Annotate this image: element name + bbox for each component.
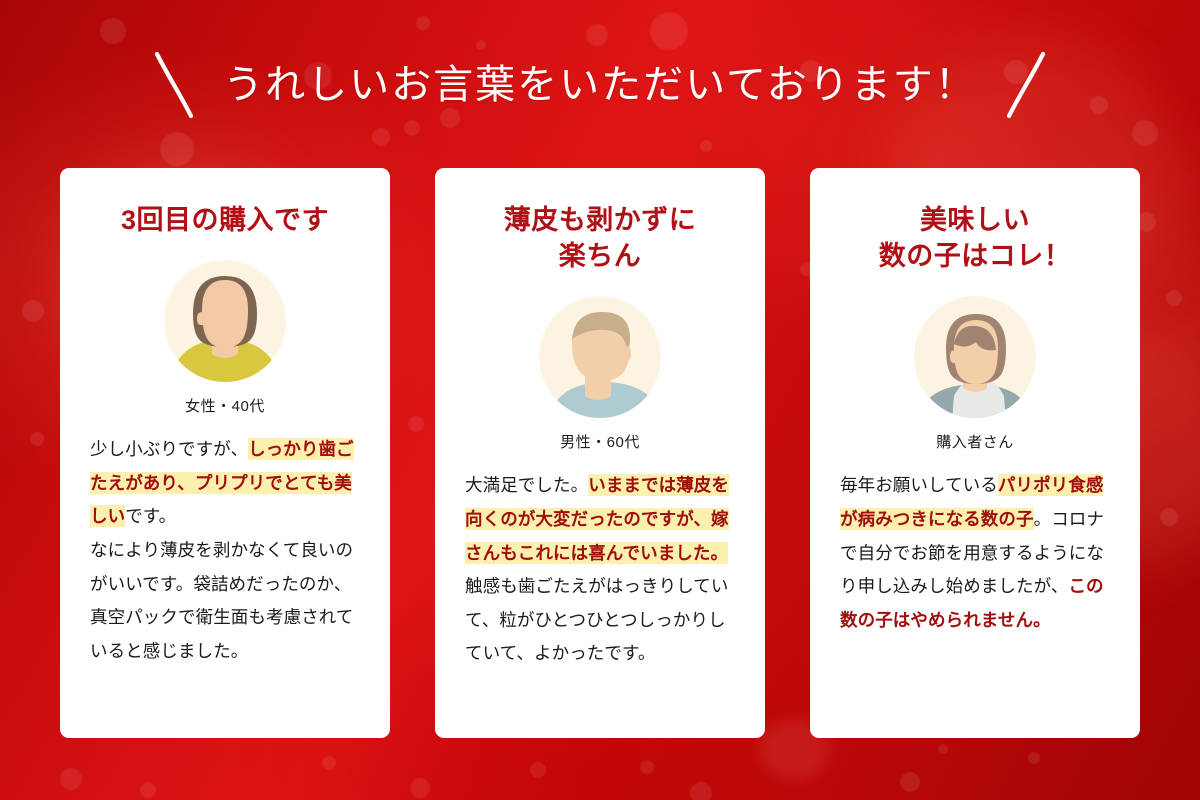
page-title: うれしいお言葉をいただいております！ (223, 65, 977, 105)
card-title: 3回目の購入です (121, 202, 329, 238)
card-body: 少し小ぶりですが、しっかり歯ごたえがあり、プリプリでとても美しいです。なにより薄… (90, 433, 360, 668)
person-label: 男性・60代 (560, 431, 640, 452)
avatar-woman-40s-icon (164, 260, 286, 382)
card-body: 大満足でした。いままでは薄皮を向くのが大変だったのですが、嫁さんもこれには喜んで… (465, 469, 735, 671)
testimonial-card-list: 3回目の購入です 女性・40代 少し小ぶりですが、しっかり歯ごたえがあり、プリプ… (60, 168, 1140, 738)
avatar-man-60s-icon (539, 296, 661, 418)
card-title: 美味しい 数の子はコレ！ (879, 202, 1072, 274)
testimonial-card: 3回目の購入です 女性・40代 少し小ぶりですが、しっかり歯ごたえがあり、プリプ… (60, 168, 390, 738)
avatar (164, 260, 286, 382)
emphasis-text: この数の子はやめられません。 (840, 576, 1104, 630)
avatar (914, 296, 1036, 418)
avatar-buyer-icon (914, 296, 1036, 418)
person-label: 女性・40代 (185, 395, 265, 416)
slash-left-icon (151, 50, 197, 120)
person-label: 購入者さん (936, 431, 1014, 452)
card-title: 薄皮も剥かずに 楽ちん (504, 202, 697, 274)
page-header: うれしいお言葉をいただいております！ (0, 46, 1200, 124)
testimonial-card: 美味しい 数の子はコレ！ 購入者さん 毎年お願いしているパリポリ食感が病みつきに… (810, 168, 1140, 738)
avatar (539, 296, 661, 418)
highlighted-text: パリポリ食感が病みつきになる数の子 (840, 474, 1103, 530)
testimonial-card: 薄皮も剥かずに 楽ちん 男性・60代 大満足でした。いままでは薄皮を向くのが大変… (435, 168, 765, 738)
slash-right-icon (1003, 50, 1049, 120)
highlighted-text: しっかり歯ごたえがあり、プリプリでとても美しい (90, 438, 354, 527)
card-body: 毎年お願いしているパリポリ食感が病みつきになる数の子。コロナで自分でお節を用意す… (840, 469, 1110, 637)
highlighted-text: いままでは薄皮を向くのが大変だったのですが、嫁さんもこれには喜んでいました。 (465, 474, 729, 563)
